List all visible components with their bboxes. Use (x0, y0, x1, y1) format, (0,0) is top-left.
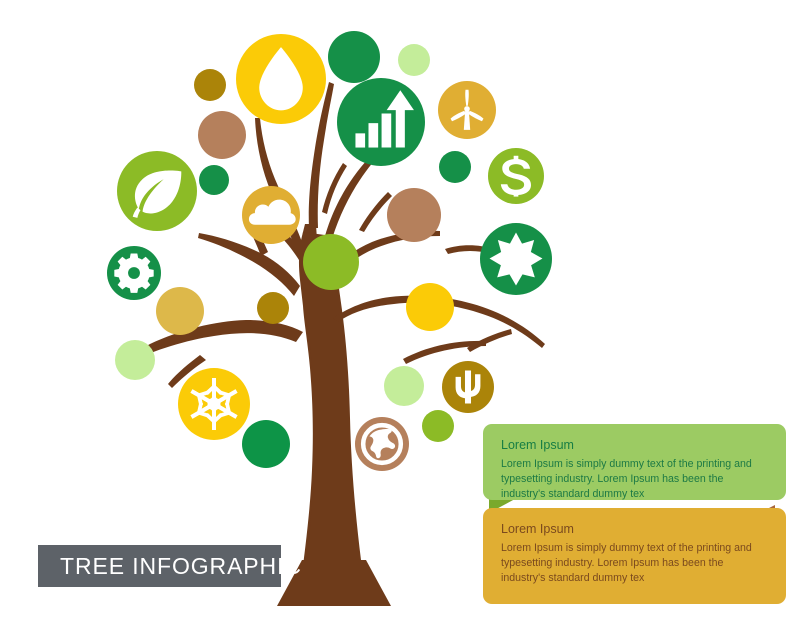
leaf-circle (156, 287, 204, 335)
icon-node-leaf[interactable] (117, 151, 197, 231)
icon-node-wind-turbine[interactable] (438, 81, 496, 139)
leaf-circle (199, 165, 229, 195)
leaf-circle (387, 188, 441, 242)
icon-node-cloud[interactable] (242, 186, 300, 244)
branch-right-arc (403, 341, 486, 364)
leaf-circle (384, 366, 424, 406)
icon-node-snowflake[interactable] (178, 368, 250, 440)
branch-right-spur (359, 192, 392, 232)
leaf-circle (115, 340, 155, 380)
callout-gold-body: Lorem Ipsum is simply dummy text of the … (501, 541, 768, 586)
leaf-circle (439, 151, 471, 183)
leaf-circle (257, 292, 289, 324)
callout-green-title: Lorem Ipsum (501, 438, 768, 454)
leaf-circle (422, 410, 454, 442)
page-title: TREE INFOGRAPHIC (38, 553, 302, 580)
leaf-circle (303, 234, 359, 290)
icon-node-globe[interactable] (355, 417, 409, 471)
callout-green-body: Lorem Ipsum is simply dummy text of the … (501, 457, 768, 502)
gear-icon (114, 253, 153, 292)
callout-gold-title: Lorem Ipsum (501, 522, 768, 538)
icon-circle-background (337, 78, 425, 166)
branch-left-mid (198, 233, 300, 296)
leaf-circle (328, 31, 380, 83)
icon-node-bar-chart-growth[interactable] (337, 78, 425, 166)
title-banner: TREE INFOGRAPHIC (38, 545, 281, 587)
leaf-circle (194, 69, 226, 101)
callout-green[interactable]: Lorem Ipsum Lorem Ipsum is simply dummy … (483, 424, 786, 500)
icon-node-water-drop[interactable] (236, 34, 326, 124)
infographic-canvas: TREE INFOGRAPHIC Lorem Ipsum Lorem Ipsum… (0, 0, 800, 623)
leaf-circle (406, 283, 454, 331)
leaf-circle (242, 420, 290, 468)
branch-right-far-tip (467, 329, 512, 352)
icon-node-gear[interactable] (107, 246, 161, 300)
icon-node-dollar-sign[interactable] (488, 148, 544, 204)
leaf-circle (198, 111, 246, 159)
callout-gold[interactable]: Lorem Ipsum Lorem Ipsum is simply dummy … (483, 508, 786, 604)
leaf-circle (398, 44, 430, 76)
icon-node-cactus[interactable] (442, 361, 494, 413)
icon-node-sun[interactable] (480, 223, 552, 295)
